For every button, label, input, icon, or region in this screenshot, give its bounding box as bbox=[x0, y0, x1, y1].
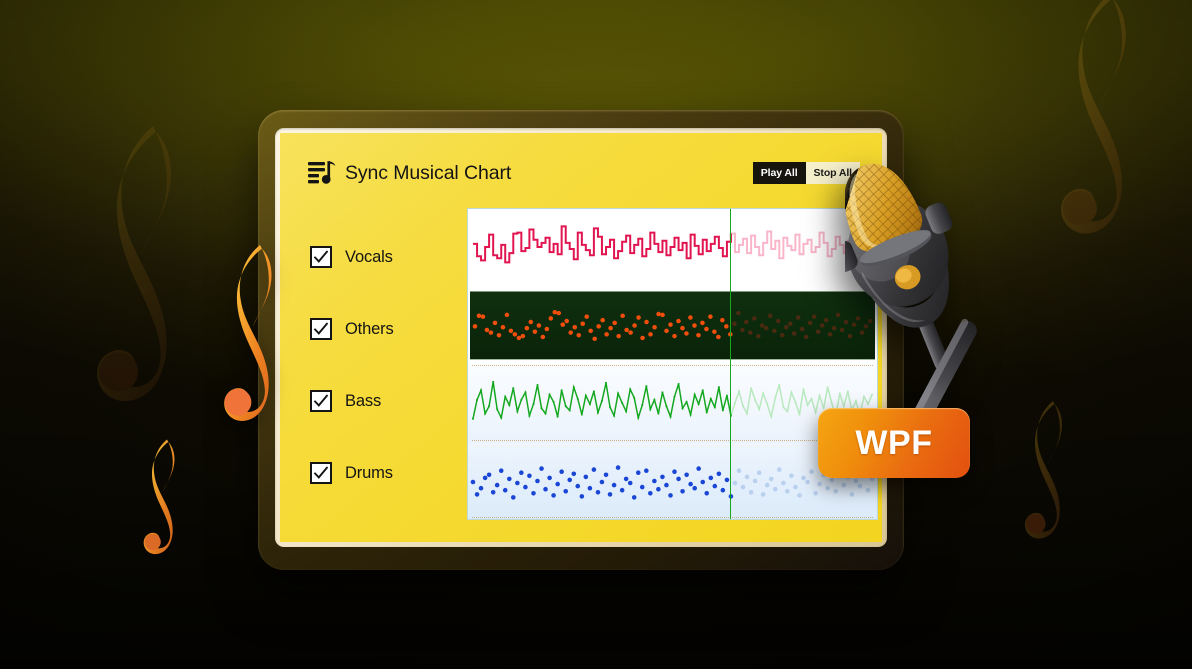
checkbox-others[interactable] bbox=[310, 318, 332, 340]
chart-panel-drums[interactable] bbox=[468, 443, 877, 520]
check-icon bbox=[313, 249, 329, 265]
playhead-others[interactable] bbox=[730, 287, 732, 363]
track-label-drums: Drums bbox=[345, 464, 393, 483]
playhead-vocals[interactable] bbox=[730, 209, 732, 287]
play-all-button[interactable]: Play All bbox=[753, 162, 806, 184]
page-title: Sync Musical Chart bbox=[345, 162, 511, 185]
checkbox-drums[interactable] bbox=[310, 462, 332, 484]
chart-area[interactable] bbox=[467, 208, 878, 520]
microphone-illustration bbox=[845, 145, 989, 430]
chart-plot-vocals bbox=[468, 209, 877, 287]
chart-panel-others[interactable] bbox=[468, 287, 877, 363]
transport-controls: Play All Stop All bbox=[753, 162, 860, 184]
checkbox-vocals[interactable] bbox=[310, 246, 332, 268]
tablet-screen: Sync Musical Chart Play All Stop All Voc… bbox=[280, 133, 882, 542]
chart-plot-others bbox=[470, 292, 875, 359]
track-label-vocals: Vocals bbox=[345, 248, 393, 267]
track-row-others[interactable]: Others bbox=[310, 293, 428, 365]
chart-plot-drums bbox=[468, 443, 877, 520]
app-header: Sync Musical Chart Play All Stop All bbox=[308, 155, 860, 191]
tablet-bezel: Sync Musical Chart Play All Stop All Voc… bbox=[275, 128, 887, 547]
panel-separator-bottom-bass bbox=[472, 440, 873, 441]
check-icon bbox=[313, 465, 329, 481]
checkbox-bass[interactable] bbox=[310, 390, 332, 412]
chart-panel-vocals[interactable] bbox=[468, 209, 877, 287]
playhead-bass[interactable] bbox=[730, 363, 732, 443]
track-list: Vocals Others Ba bbox=[310, 221, 428, 509]
chart-panel-bass[interactable] bbox=[468, 363, 877, 443]
track-label-bass: Bass bbox=[345, 392, 381, 411]
track-row-vocals[interactable]: Vocals bbox=[310, 221, 428, 293]
chart-plot-bass bbox=[468, 363, 877, 443]
wpf-badge-label: WPF bbox=[855, 424, 932, 463]
check-icon bbox=[313, 321, 329, 337]
playlist-music-icon bbox=[308, 160, 336, 186]
wpf-platform-badge: WPF bbox=[818, 408, 970, 478]
track-row-bass[interactable]: Bass bbox=[310, 365, 428, 437]
check-icon bbox=[313, 393, 329, 409]
playhead-drums[interactable] bbox=[730, 443, 732, 520]
tablet-device-frame: Sync Musical Chart Play All Stop All Voc… bbox=[258, 110, 904, 570]
track-row-drums[interactable]: Drums bbox=[310, 437, 428, 509]
track-label-others: Others bbox=[345, 320, 394, 339]
chart-plot-background-others bbox=[470, 291, 875, 360]
panel-separator-bottom-drums bbox=[472, 517, 873, 518]
